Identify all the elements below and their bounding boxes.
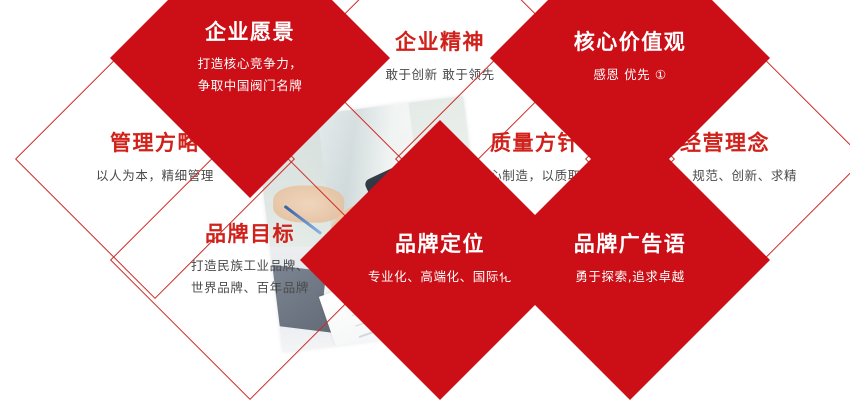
diamond-content-vision: 企业愿景打造核心竞争力，争取中国阀门名牌 [151,0,349,157]
diamond-brand-slogan[interactable]: 品牌广告语勇于探索,追求卓越 [490,120,770,400]
diamond-subtitle-line: 专业化、高端化、国际化 [368,266,512,288]
diamond-subtitle-brand-positioning: 专业化、高端化、国际化 [368,266,512,288]
diamond-subtitle-line: 感恩 优先 ① [593,64,666,86]
diamond-subtitle-line: 争取中国阀门名牌 [198,75,303,97]
diamond-title-core-values: 核心价值观 [574,30,687,54]
diamond-subtitle-brand-slogan: 勇于探索,追求卓越 [575,266,684,288]
culture-diagram: 企业愿景打造核心竞争力，争取中国阀门名牌企业精神敢于创新 敢于领先核心价值观感恩… [0,0,850,402]
diamond-content-brand-slogan: 品牌广告语勇于探索,追求卓越 [531,161,729,359]
diamond-subtitle-vision: 打造核心竞争力，争取中国阀门名牌 [198,53,303,97]
diamond-subtitle-core-values: 感恩 优先 ① [593,64,666,86]
diamond-title-brand-positioning: 品牌定位 [395,232,485,256]
diamond-title-brand-goal: 品牌目标 [205,222,295,246]
diamond-subtitle-line: 打造民族工业品牌、 [191,255,309,277]
diamond-subtitle-line: 打造核心竞争力， [198,53,303,75]
diamond-subtitle-line: 世界品牌、百年品牌 [191,277,309,299]
diamond-title-spirit: 企业精神 [395,30,485,54]
diamond-subtitle-line: 勇于探索,追求卓越 [575,266,684,288]
diamond-title-brand-slogan: 品牌广告语 [574,232,687,256]
diamond-title-vision: 企业愿景 [205,20,295,44]
diamond-subtitle-brand-goal: 打造民族工业品牌、世界品牌、百年品牌 [191,255,309,299]
